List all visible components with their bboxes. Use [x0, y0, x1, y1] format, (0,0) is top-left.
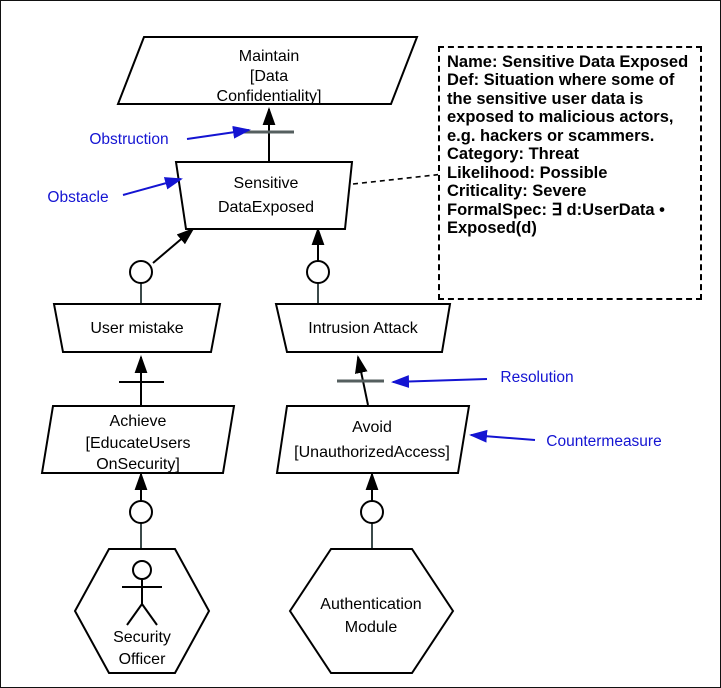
annotation-countermeasure-label: Countermeasure: [546, 433, 661, 450]
agent-left-line1: Security: [113, 629, 171, 646]
goal-right-line2: [UnauthorizedAccess]: [294, 444, 450, 461]
obstacle-main-line1: Sensitive: [234, 175, 299, 192]
or-refinement-node-left: [130, 261, 152, 283]
node-obstacle-intrusion-attack[interactable]: Intrusion Attack: [276, 304, 450, 352]
note-connector: [353, 174, 444, 184]
agent-right-line2: Module: [345, 619, 398, 636]
node-goal-educate-users[interactable]: Achieve [EducateUsers OnSecurity]: [42, 406, 234, 473]
resolution-link-left: [119, 357, 164, 405]
diagram-canvas: Maintain [Data Confidentiality] Sensitiv…: [0, 0, 721, 688]
node-obstacle-sensitive-data-exposed[interactable]: Sensitive DataExposed: [176, 162, 352, 229]
goal-left-line3: OnSecurity]: [96, 456, 180, 473]
resolution-link-right: [337, 357, 384, 405]
responsibility-link-right: [361, 474, 383, 549]
obstacle-left-line1: User mistake: [90, 320, 183, 337]
obstacle-right-line1: Intrusion Attack: [308, 320, 418, 337]
annotation-obstacle-label: Obstacle: [47, 189, 108, 206]
obstruction-link: [244, 109, 294, 161]
obstacle-definition-note-text: Name: Sensitive Data Exposed Def: Situat…: [447, 53, 694, 238]
obstacle-main-line2: DataExposed: [218, 199, 314, 216]
goal-right-line1: Avoid: [352, 419, 392, 436]
annotation-countermeasure: Countermeasure: [471, 433, 662, 450]
agent-right-line1: Authentication: [320, 596, 421, 613]
annotation-resolution: Resolution: [393, 369, 574, 386]
goal-left-line2: [EducateUsers: [86, 435, 191, 452]
node-goal-avoid-unauthorized-access[interactable]: Avoid [UnauthorizedAccess]: [277, 406, 469, 473]
node-agent-security-officer[interactable]: Security Officer: [75, 549, 209, 673]
refinement-link-intrusion-attack: [307, 229, 329, 304]
responsibility-node-left: [130, 501, 152, 523]
root-goal-line1: Maintain: [239, 48, 299, 65]
node-obstacle-user-mistake[interactable]: User mistake: [54, 304, 220, 352]
root-goal-line2: [Data: [250, 68, 288, 85]
annotation-obstacle: Obstacle: [47, 179, 181, 206]
node-agent-authentication-module[interactable]: Authentication Module: [290, 549, 453, 673]
obstacle-definition-note[interactable]: Name: Sensitive Data Exposed Def: Situat…: [438, 46, 702, 300]
responsibility-node-right: [361, 501, 383, 523]
annotation-obstruction: Obstruction: [89, 130, 249, 148]
root-goal-line3: Confidentiality]: [217, 88, 322, 105]
goal-left-line1: Achieve: [110, 413, 167, 430]
annotation-resolution-label: Resolution: [500, 369, 573, 386]
or-refinement-node-right: [307, 261, 329, 283]
annotation-obstruction-label: Obstruction: [89, 131, 168, 148]
responsibility-link-left: [130, 474, 152, 549]
node-root-goal[interactable]: Maintain [Data Confidentiality]: [118, 37, 417, 105]
refinement-link-user-mistake: [130, 229, 193, 304]
agent-left-line2: Officer: [119, 651, 167, 668]
